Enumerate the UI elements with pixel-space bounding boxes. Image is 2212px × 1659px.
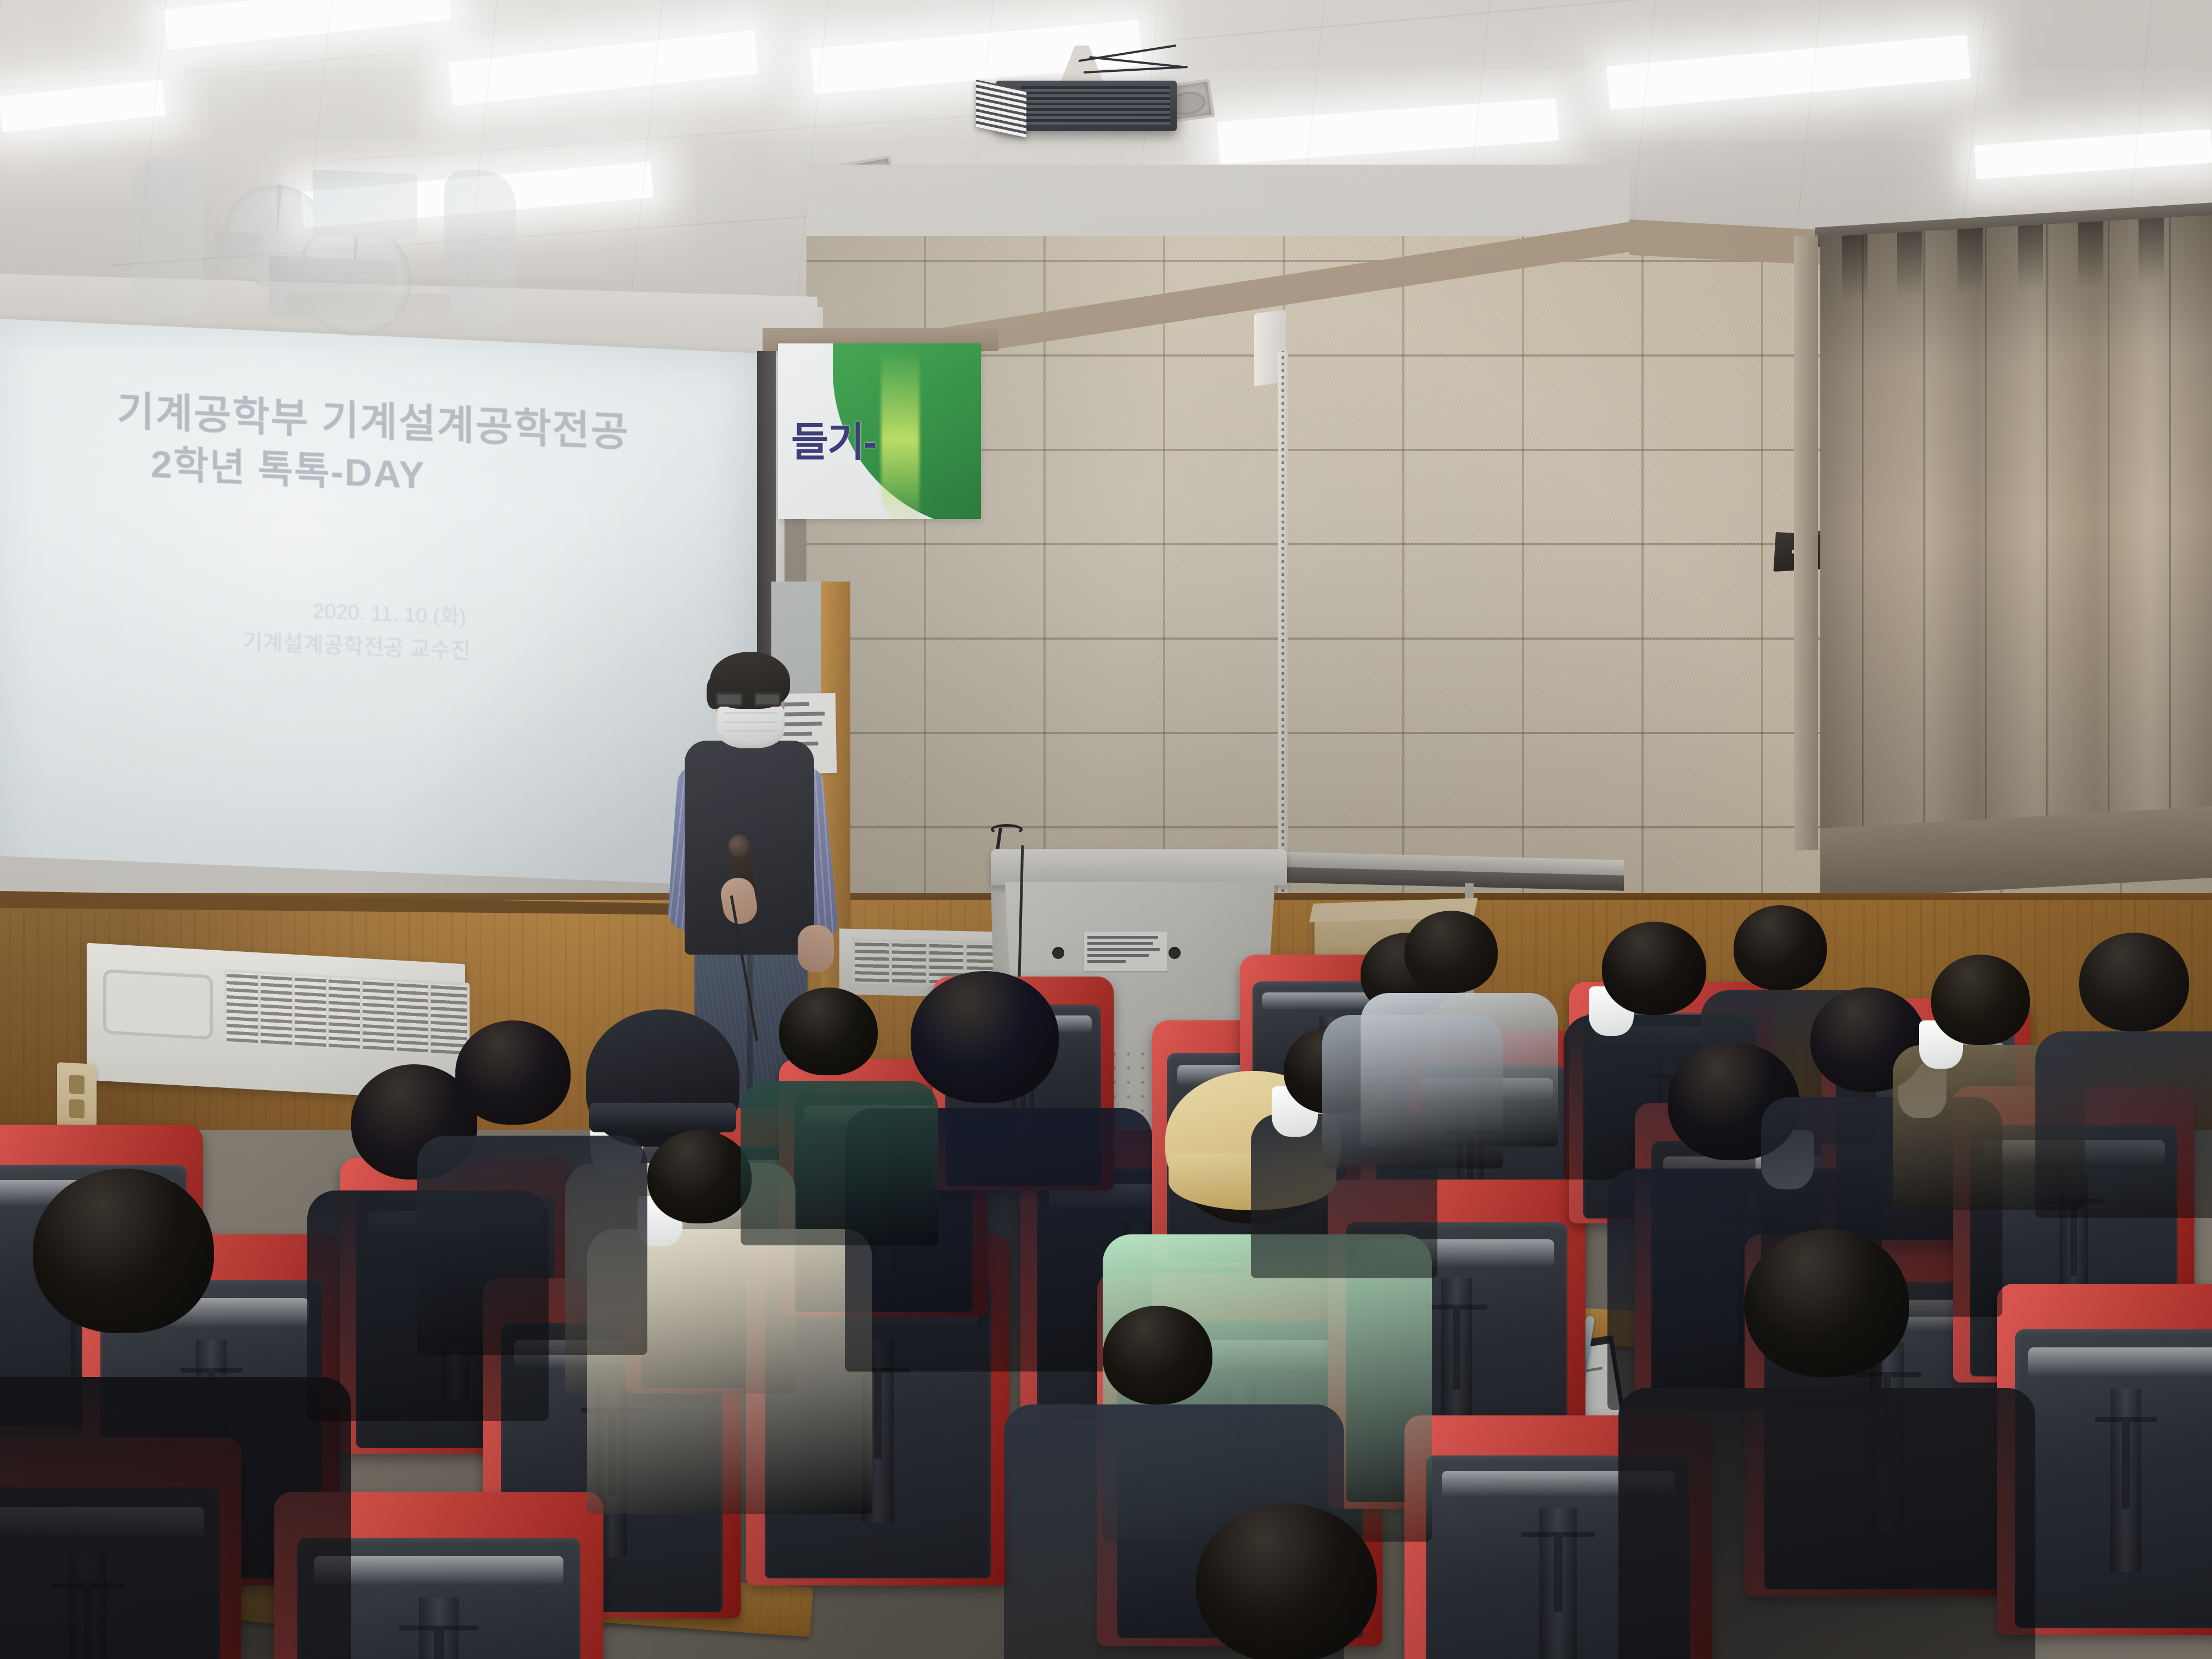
window-frame [1794, 235, 1818, 851]
person-torso [741, 1081, 938, 1245]
lectern-mic-gooseneck [991, 824, 1023, 835]
person-head [1602, 922, 1706, 1015]
person-head [33, 1169, 214, 1333]
student-right-khaki [1931, 955, 2030, 1045]
beanie-cuff [589, 1103, 736, 1132]
person-head [1931, 955, 2030, 1045]
student-green-jacket [779, 988, 878, 1075]
person-torso [1361, 993, 1558, 1147]
student-cream-jacket [647, 1130, 752, 1223]
wall-power-outlet[interactable] [57, 1062, 97, 1133]
lectern-instruction-label [1084, 932, 1167, 971]
student-center-lightblue [1404, 911, 1498, 993]
seat-logo [2095, 1417, 2157, 1508]
heater-control-panel[interactable] [103, 969, 213, 1040]
knit-beanie [586, 1009, 740, 1147]
person-head [1745, 1229, 1909, 1377]
student-right-front-fleece [1745, 1229, 1909, 1377]
ceiling-light-6 [1606, 35, 1971, 110]
student-plaid-shirt [1103, 1306, 1212, 1404]
presenter-face-mask [716, 704, 785, 748]
ceiling-projector [996, 69, 1177, 134]
ceiling-light-2 [448, 30, 758, 106]
person-head [2079, 933, 2189, 1031]
presenter-hand-right [798, 925, 834, 972]
student-right-far-edge [2079, 933, 2189, 1031]
person-head [779, 988, 878, 1075]
lectern-top [991, 849, 1287, 885]
person-head [1404, 911, 1498, 993]
seat-logo [1426, 1305, 1488, 1390]
auditorium-photo: 기계공학부 기계설계공학전공 2학년 톡톡-DAY 2020. 11. 10.(… [0, 0, 2212, 1659]
student-bottom-center [1196, 1503, 1377, 1659]
person-head [455, 1020, 571, 1125]
banner-text: 들기- [791, 409, 876, 468]
person-torso [1618, 1388, 2035, 1659]
person-torso [2035, 1031, 2212, 1218]
student-far-right-2 [1734, 905, 1827, 990]
wall-banner: 들기- [778, 343, 981, 519]
ceiling-light-9 [1974, 129, 2212, 179]
student-far-right-1 [1602, 922, 1706, 1015]
person-head [647, 1130, 752, 1223]
student-beanie [598, 1031, 724, 1147]
person-head [1734, 905, 1827, 990]
person-head [911, 971, 1059, 1103]
ceiling-light-3 [0, 80, 166, 133]
banner-lime-highlight [881, 349, 919, 519]
student-left-dark-2 [455, 1020, 571, 1125]
seat-logo [399, 1626, 478, 1659]
projector-cables [1078, 49, 1193, 77]
slide-text: 기계공학부 기계설계공학전공 2학년 톡톡-DAY 2020. 11. 10.(… [22, 358, 757, 696]
person-torso [0, 1377, 351, 1659]
person-head [1103, 1306, 1212, 1404]
slide-artwork-gear-hands [132, 145, 516, 342]
person-torso [417, 1136, 647, 1355]
window-curtain[interactable] [1820, 215, 2212, 851]
student-front-left-black-top [33, 1169, 214, 1333]
person-head [1196, 1503, 1377, 1659]
student-navy-hoodie [911, 971, 1059, 1103]
ceiling-light-1 [163, 0, 452, 50]
heater-louver [853, 939, 891, 984]
presenter-glasses [715, 692, 786, 707]
ceiling-light-5 [1217, 98, 1559, 164]
seat-logo [1521, 1532, 1595, 1612]
